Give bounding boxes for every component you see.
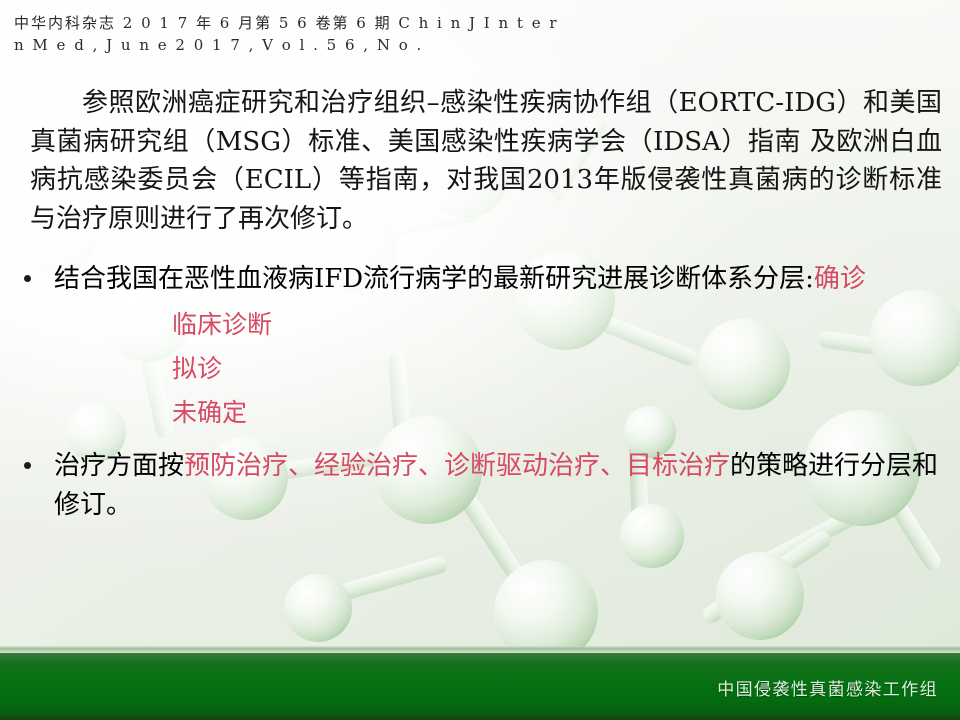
- slide-body: 参照欧洲癌症研究和治疗组织–感染性疾病协作组（EORTC-IDG）和美国真菌病研…: [0, 84, 960, 525]
- diagnosis-tier-item: 未确定: [172, 391, 942, 435]
- bullet-2-segment-red: 预防治疗、经验治疗、诊断驱动治疗、目标治疗: [184, 451, 730, 481]
- bullet-item-1: 结合我国在恶性血液病IFD流行病学的最新研究进展诊断体系分层:确诊 临床诊断 拟…: [4, 260, 942, 435]
- diagnosis-tier-list: 临床诊断 拟诊 未确定: [54, 303, 942, 435]
- bullet-2-segment-black-1: 治疗方面按: [54, 451, 184, 481]
- bullet-item-2: 治疗方面按预防治疗、经验治疗、诊断驱动治疗、目标治疗的策略进行分层和修订。: [4, 447, 942, 525]
- slide-canvas: 中华内科杂志 2 0 1 7 年 6 月第 5 6 卷第 6 期 C h i n…: [0, 0, 960, 720]
- bullet-2-text: 治疗方面按预防治疗、经验治疗、诊断驱动治疗、目标治疗的策略进行分层和修订。: [54, 447, 942, 525]
- footer-accent-strip: [0, 646, 960, 653]
- bullet-dot-icon: [24, 275, 31, 282]
- bullet-dot-icon: [24, 462, 31, 469]
- bullet-1-lead-red: 确诊: [814, 264, 866, 294]
- intro-paragraph: 参照欧洲癌症研究和治疗组织–感染性疾病协作组（EORTC-IDG）和美国真菌病研…: [30, 84, 942, 238]
- journal-citation-header: 中华内科杂志 2 0 1 7 年 6 月第 5 6 卷第 6 期 C h i n…: [14, 12, 714, 56]
- footer-organization-label: 中国侵袭性真菌感染工作组: [717, 675, 938, 700]
- diagnosis-tier-item: 临床诊断: [172, 303, 942, 347]
- bullet-1-text: 结合我国在恶性血液病IFD流行病学的最新研究进展诊断体系分层:确诊: [54, 260, 942, 299]
- footer-bar: 中国侵袭性真菌感染工作组: [0, 653, 960, 720]
- diagnosis-tier-item: 拟诊: [172, 347, 942, 391]
- bullet-1-lead-black: 结合我国在恶性血液病IFD流行病学的最新研究进展诊断体系分层:: [54, 264, 814, 294]
